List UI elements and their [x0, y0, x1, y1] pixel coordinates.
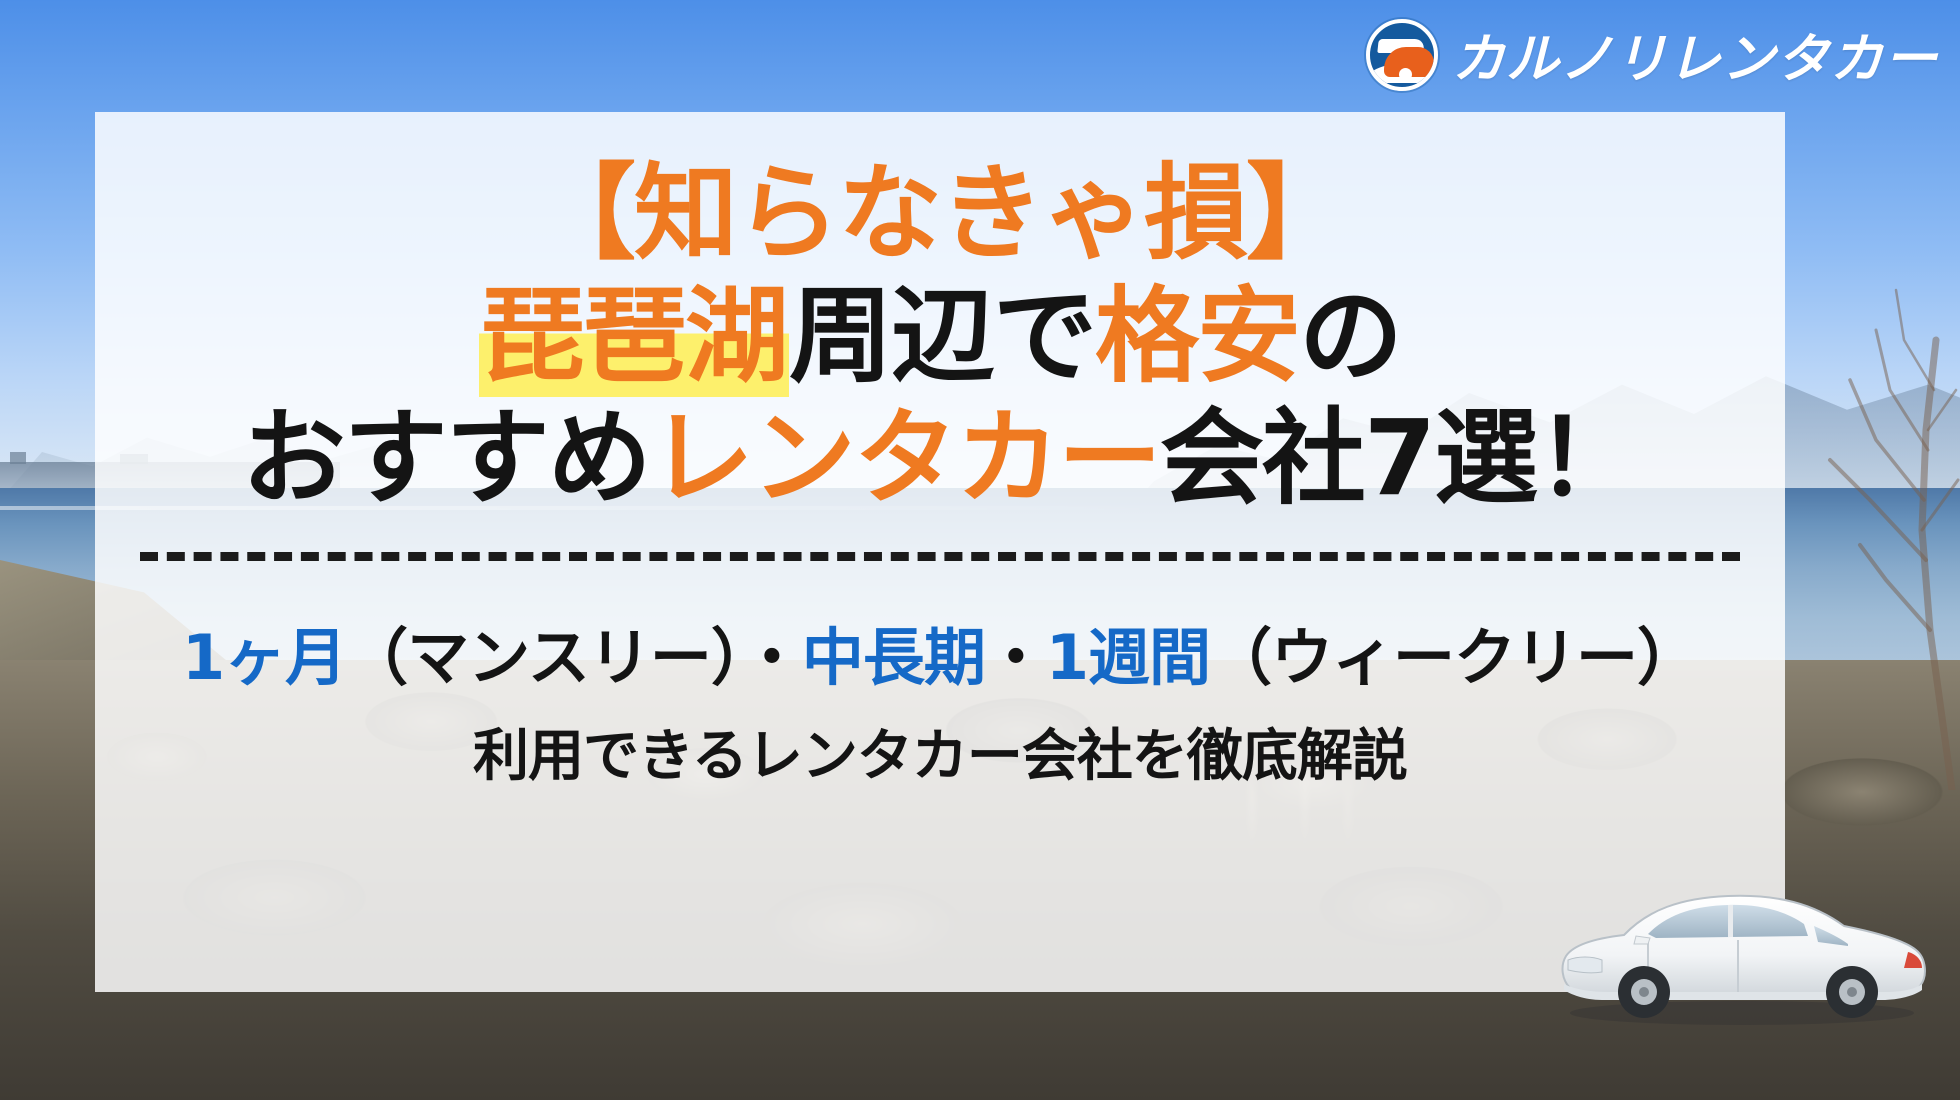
title-line-1: 【知らなきゃ損】: [532, 154, 1348, 273]
title-line3-black-1: おすすめ: [242, 397, 650, 519]
subtitle-term-monthly: 1ヶ月: [182, 621, 346, 694]
subtitle-term-midlong: 中長期: [802, 621, 985, 694]
dashed-divider: [140, 552, 1740, 561]
title-line-2: 琵琶湖周辺で格安の: [479, 277, 1401, 396]
subtitle-line-2: 利用できるレンタカー会社を徹底解説: [473, 711, 1407, 792]
white-car-illustration: [1552, 880, 1932, 1030]
title-keyword-kakuyasu: 格安: [1095, 275, 1299, 397]
subtitle-line-1: 1ヶ月（マンスリー）・中長期・1週間（ウィークリー）: [182, 607, 1698, 697]
brand-logo[interactable]: カルノリレンタカー: [1366, 16, 1938, 94]
title-line-3: おすすめレンタカー会社7選！: [242, 399, 1638, 518]
subtitle-line1-black-2: ・: [985, 621, 1046, 694]
brand-logo-text: カルノリレンタカー: [1452, 17, 1938, 93]
subtitle-term-weekly: 1週間: [1046, 621, 1210, 694]
content-panel: 【知らなきゃ損】 琵琶湖周辺で格安の おすすめレンタカー会社7選！ 1ヶ月（マン…: [95, 112, 1785, 992]
title-line2-black-2: の: [1299, 275, 1401, 397]
subtitle-line1-black-1: （マンスリー）・: [346, 621, 802, 694]
title-keyword-rentacar: レンタカー: [650, 397, 1160, 519]
car-circle-logo-icon: [1366, 19, 1438, 91]
title-keyword-biwako: 琵琶湖: [479, 275, 789, 397]
title-line2-black-1: 周辺で: [789, 275, 1095, 397]
subtitle-line1-black-3: （ウィークリー）: [1210, 621, 1698, 694]
title-line3-black-2: 会社7選！: [1160, 397, 1638, 519]
